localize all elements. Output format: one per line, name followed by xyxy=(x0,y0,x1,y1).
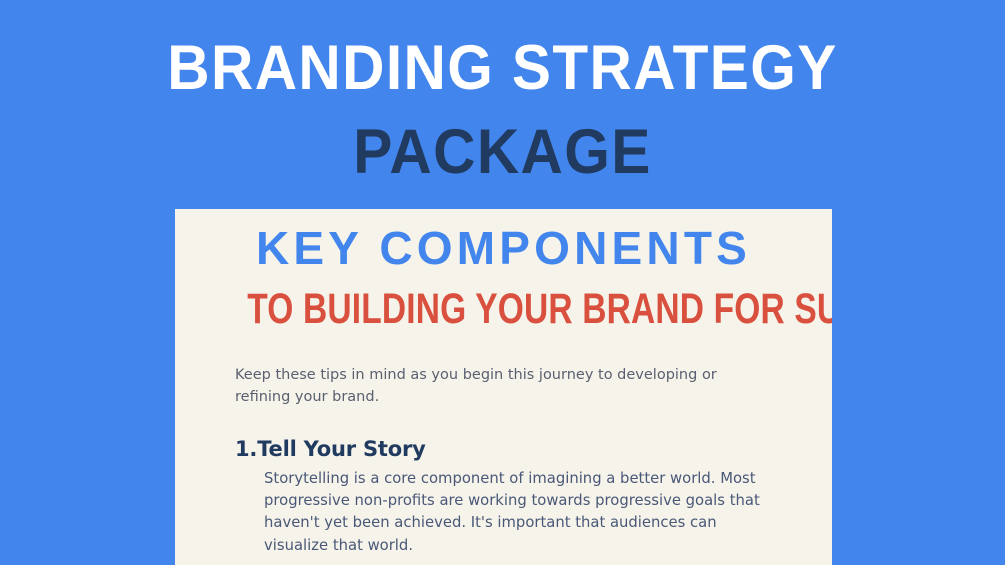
slide-canvas: BRANDING STRATEGY PACKAGE KEY COMPONENTS… xyxy=(0,0,1005,565)
headline-line-1: BRANDING STRATEGY xyxy=(35,33,970,103)
key-components-card: KEY COMPONENTS TO BUILDING YOUR BRAND FO… xyxy=(175,209,832,565)
card-title: KEY COMPONENTS xyxy=(175,221,832,275)
section-body-1: Storytelling is a core component of imag… xyxy=(264,468,784,557)
headline-line-2: PACKAGE xyxy=(35,117,970,187)
section-heading-1: 1.Tell Your Story xyxy=(235,435,426,463)
card-intro-text: Keep these tips in mind as you begin thi… xyxy=(235,364,735,408)
card-subtitle: TO BUILDING YOUR BRAND FOR SUCCESS xyxy=(247,285,759,333)
